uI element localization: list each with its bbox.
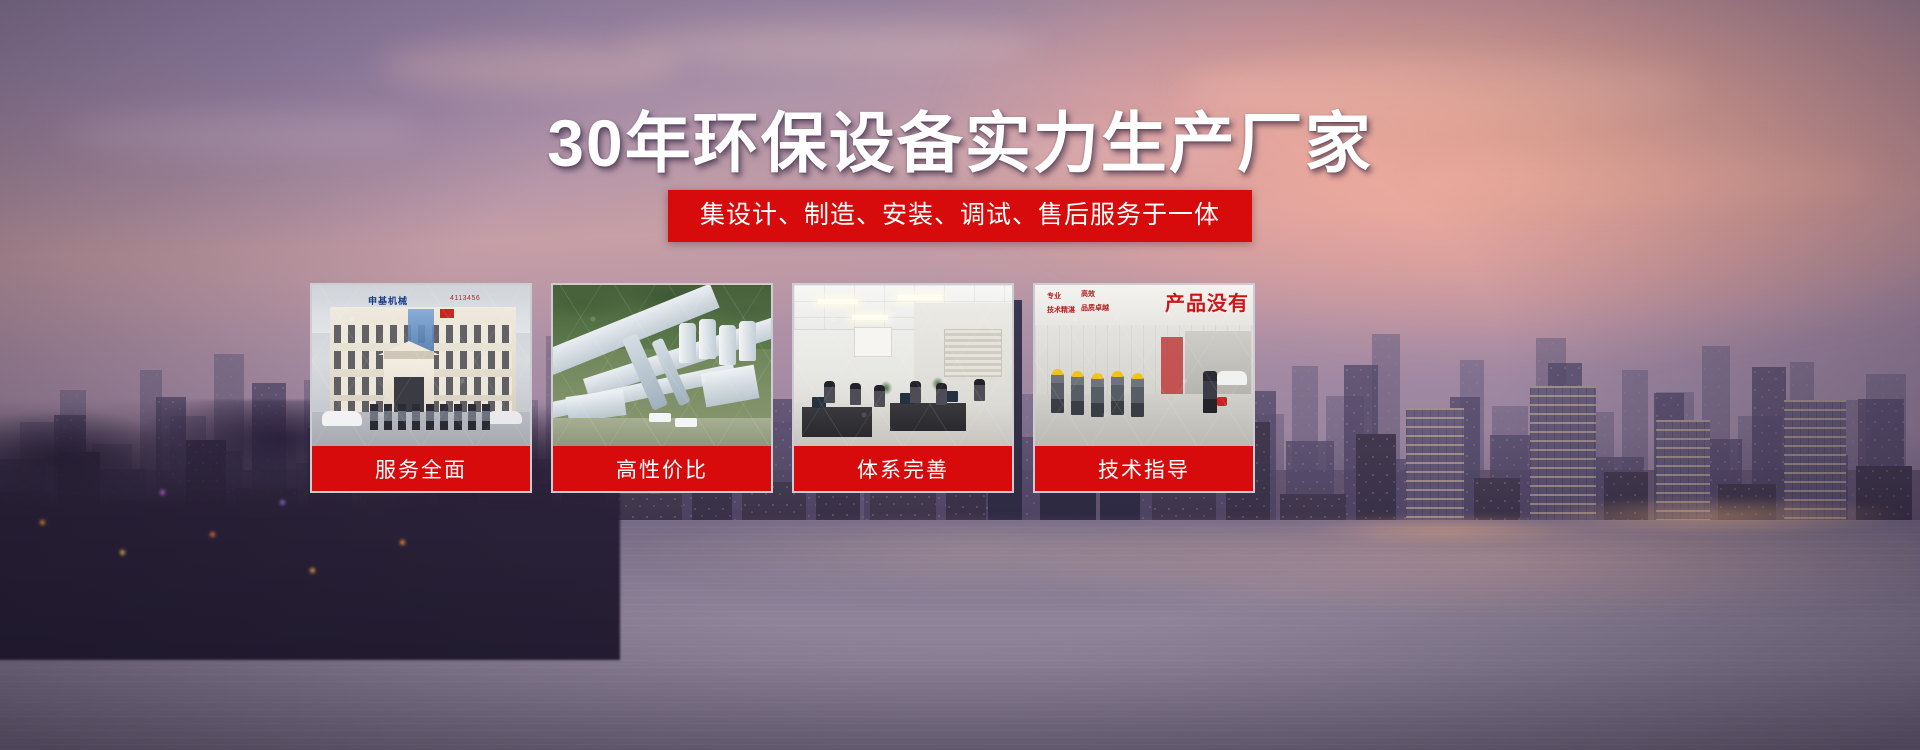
company-signage: 申基机械 <box>368 294 408 307</box>
feature-card-1[interactable]: 申基机械 4113456 <box>310 283 532 493</box>
card-4-photo: 专业 高效 技术精湛 品质卓越 产品没有 <box>1035 285 1253 448</box>
wall-slogan-small-4: 品质卓越 <box>1081 305 1109 313</box>
subtitle-badge: 集设计、制造、安装、调试、售后服务于一体 <box>668 190 1252 242</box>
banner-content: 30年环保设备实力生产厂家 集设计、制造、安装、调试、售后服务于一体 <box>0 0 1920 750</box>
feature-card-2[interactable]: 高性价比 <box>551 283 773 493</box>
feature-card-3[interactable]: 体系完善 <box>792 283 1014 493</box>
feature-card-list: 申基机械 4113456 <box>310 283 1560 493</box>
feature-card-1-caption: 服务全面 <box>312 446 530 491</box>
promo-banner: 30年环保设备实力生产厂家 集设计、制造、安装、调试、售后服务于一体 <box>0 0 1920 750</box>
card-3-photo <box>794 285 1012 448</box>
feature-card-4[interactable]: 专业 高效 技术精湛 品质卓越 产品没有 <box>1033 283 1255 493</box>
wall-slogan-small-3: 技术精湛 <box>1047 307 1075 315</box>
card-1-photo: 申基机械 4113456 <box>312 285 530 448</box>
wall-slogan-main: 产品没有 <box>1165 287 1249 316</box>
feature-card-2-caption: 高性价比 <box>553 446 771 491</box>
building-flag <box>440 309 454 318</box>
feature-card-3-caption: 体系完善 <box>794 446 1012 491</box>
wall-slogan-small-2: 高效 <box>1081 291 1095 299</box>
page-title: 30年环保设备实力生产厂家 <box>0 104 1920 182</box>
feature-card-4-caption: 技术指导 <box>1035 446 1253 491</box>
signage-phone: 4113456 <box>450 295 480 302</box>
wall-slogan-small-1: 专业 <box>1047 293 1061 301</box>
card-2-photo <box>553 285 771 448</box>
